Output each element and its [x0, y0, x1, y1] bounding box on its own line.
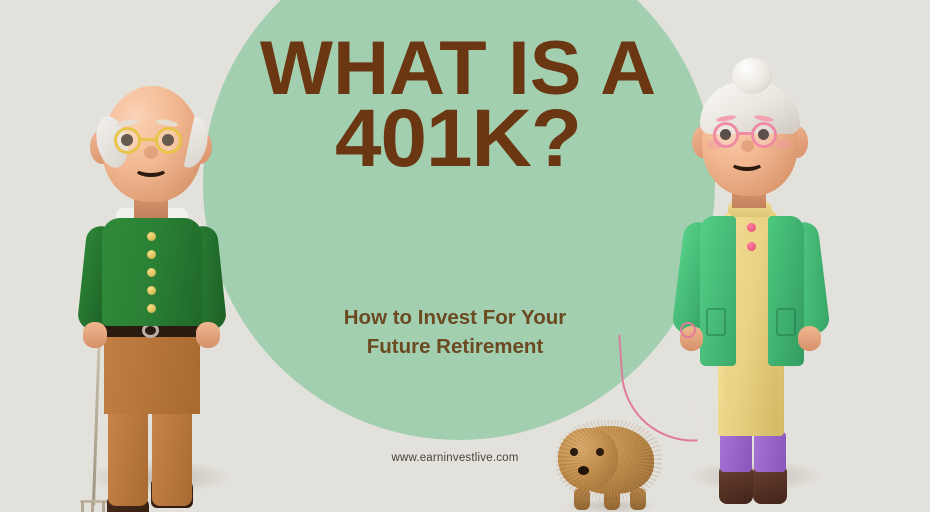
man-smile: [134, 160, 168, 177]
dress-button: [747, 223, 756, 232]
coat-pocket: [776, 308, 796, 336]
cardigan-button: [147, 250, 156, 259]
eyeglasses-icon: [155, 127, 182, 154]
woman-right-legging: [754, 432, 786, 472]
website-url: www.earninvestlive.com: [285, 452, 625, 464]
headline-line-2: 401K?: [244, 101, 672, 177]
headline-block: WHAT IS A 401K?: [248, 34, 668, 177]
woman-coat-left-panel: [700, 216, 736, 366]
subtitle-line-1: How to Invest For Your: [285, 303, 625, 332]
man-nose: [144, 146, 158, 159]
hair-bun-icon: [732, 58, 772, 94]
man-right-hand: [196, 322, 220, 348]
subtitle-block: How to Invest For Your Future Retirement: [285, 303, 625, 361]
subtitle-line-2: Future Retirement: [285, 332, 625, 361]
eyeglasses-icon: [713, 122, 739, 148]
dog-nose-icon: [578, 466, 589, 475]
woman-left-legging: [720, 432, 752, 472]
leash-handle-icon: [680, 322, 696, 338]
eyeglasses-icon: [114, 127, 141, 154]
eyeglasses-bridge-icon: [738, 132, 754, 135]
cardigan-button: [147, 268, 156, 277]
elderly-woman-illustration: [650, 60, 850, 512]
eyeglasses-icon: [751, 122, 777, 148]
man-left-hand: [83, 322, 107, 348]
man-pants: [104, 334, 200, 414]
cardigan-button: [147, 304, 156, 313]
dress-button: [747, 242, 756, 251]
woman-smile: [730, 154, 764, 171]
woman-right-hand: [798, 326, 821, 351]
cardigan-button: [147, 232, 156, 241]
cardigan-button: [147, 286, 156, 295]
poster-canvas: WHAT IS A 401K? How to Invest For Your F…: [0, 0, 930, 512]
coat-pocket: [706, 308, 726, 336]
woman-right-blush: [775, 140, 791, 149]
man-right-leg: [152, 402, 192, 506]
elderly-man-illustration: [52, 72, 252, 512]
man-left-leg: [108, 402, 148, 506]
eyeglasses-bridge-icon: [140, 138, 157, 141]
